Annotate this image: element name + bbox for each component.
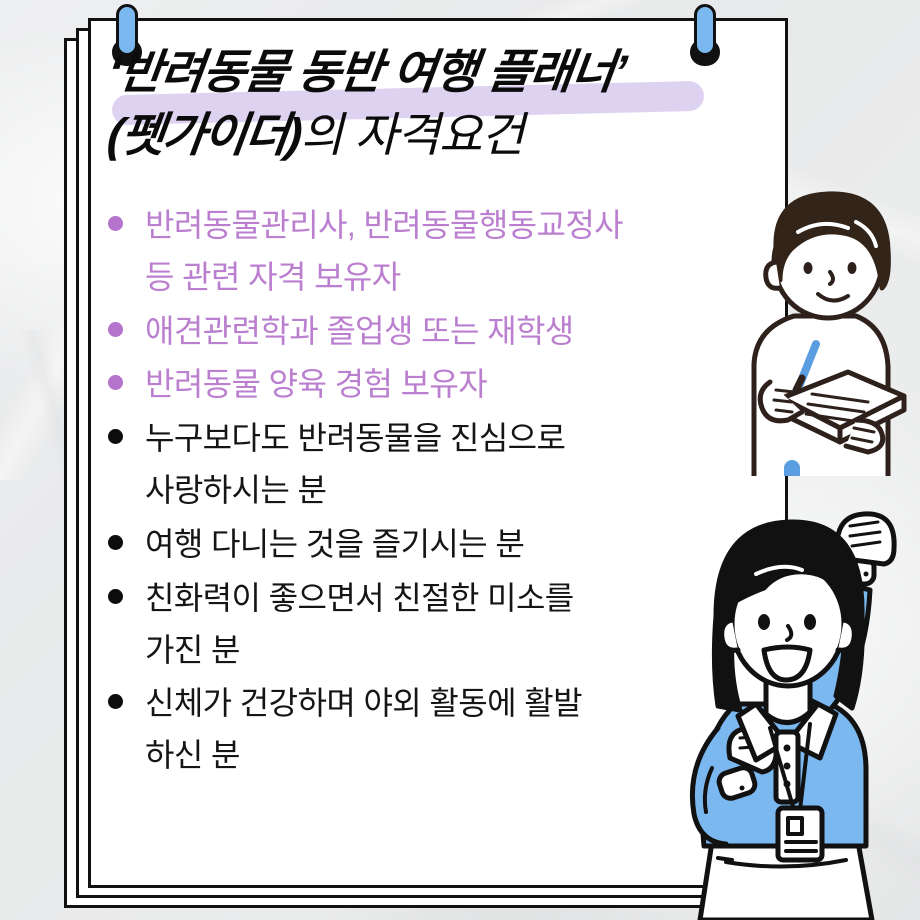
bullet-dot-icon	[108, 429, 123, 444]
bullet-dot-icon	[108, 216, 123, 231]
title-line-1: ‘반려동물 동반 여행 플래너’	[105, 48, 751, 95]
list-item-label: 반려동물 양육 경험 보유자	[145, 359, 487, 411]
bullet-dot-icon	[108, 375, 123, 390]
list-item-label: 반려동물관리사, 반려동물행동교정사 등 관련 자격 보유자	[145, 200, 623, 304]
bullet-dot-icon	[108, 589, 123, 604]
title-line-2-bold: (펫가이더)	[105, 111, 303, 158]
bullet-dot-icon	[108, 322, 123, 337]
poster-canvas: ‘반려동물 동반 여행 플래너’ (펫가이더) 의 자격요건 반려동물관리사, …	[0, 0, 920, 920]
list-item-label: 애견관련학과 졸업생 또는 재학생	[145, 306, 574, 358]
bullet-dot-icon	[108, 535, 123, 550]
list-item: 누구보다도 반려동물을 진심으로 사랑하시는 분	[108, 413, 728, 517]
title-line-2: (펫가이더) 의 자격요건	[108, 111, 748, 158]
man-writing-illustration	[736, 176, 920, 476]
list-item: 반려동물 양육 경험 보유자	[108, 359, 728, 411]
list-item: 신체가 건강하며 야외 활동에 활발 하신 분	[108, 678, 728, 782]
list-item-label: 신체가 건강하며 야외 활동에 활발 하신 분	[145, 678, 582, 782]
title-line-2-light: 의 자격요건	[300, 111, 523, 158]
list-item-label: 여행 다니는 것을 즐기시는 분	[145, 519, 524, 571]
list-item: 애견관련학과 졸업생 또는 재학생	[108, 306, 728, 358]
list-item: 반려동물관리사, 반려동물행동교정사 등 관련 자격 보유자	[108, 200, 728, 304]
list-item: 친화력이 좋으면서 친절한 미소를 가진 분	[108, 573, 728, 677]
bullet-dot-icon	[108, 694, 123, 709]
poster-heading: ‘반려동물 동반 여행 플래너’ (펫가이더) 의 자격요건	[108, 48, 748, 158]
list-item-label: 누구보다도 반려동물을 진심으로 사랑하시는 분	[145, 413, 565, 517]
list-item: 여행 다니는 것을 즐기시는 분	[108, 519, 728, 571]
requirements-list: 반려동물관리사, 반려동물행동교정사 등 관련 자격 보유자 애견관련학과 졸업…	[108, 200, 728, 784]
list-item-label: 친화력이 좋으면서 친절한 미소를 가진 분	[145, 573, 574, 677]
